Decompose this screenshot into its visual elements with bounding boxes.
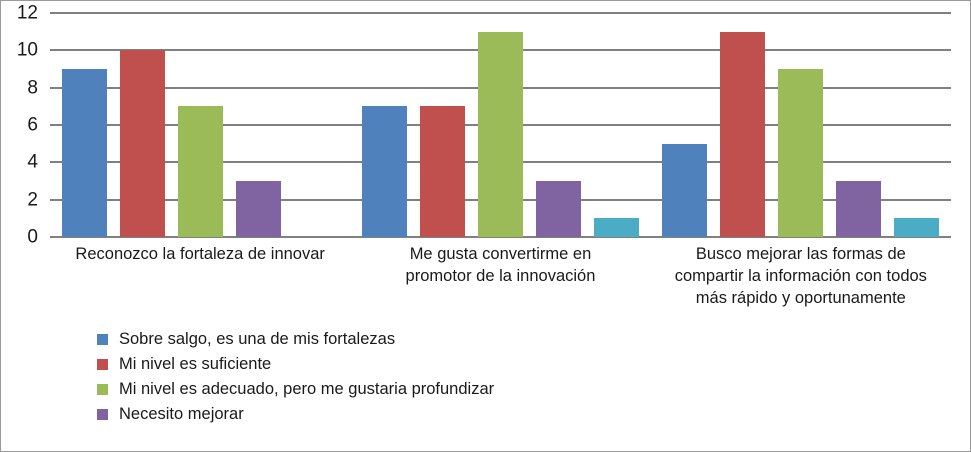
plot-area <box>50 13 951 237</box>
bar <box>536 181 581 237</box>
category-label-line: Reconozco la fortaleza de innovar <box>50 244 350 266</box>
y-tick-label: 12 <box>17 4 38 23</box>
category-label-line: compartir la información con todos <box>651 266 951 288</box>
bar <box>836 181 881 237</box>
category-label-line: Me gusta convertirme en <box>350 244 650 266</box>
category-label-line: promotor de la innovación <box>350 266 650 288</box>
category-label: Reconozco la fortaleza de innovar <box>50 244 350 266</box>
y-tick-label: 6 <box>27 116 38 135</box>
bar <box>236 181 281 237</box>
category-label: Me gusta convertirme enpromotor de la in… <box>350 244 650 288</box>
legend-label: Necesito mejorar <box>119 406 244 423</box>
bar <box>420 106 465 237</box>
legend-swatch-icon <box>97 359 108 370</box>
bar <box>362 106 407 237</box>
y-tick-label: 0 <box>27 228 38 247</box>
bar <box>478 32 523 237</box>
bar <box>62 69 107 237</box>
y-tick-label: 4 <box>27 153 38 172</box>
y-axis: 024681012 <box>1 1 50 249</box>
legend-label: Sobre salgo, es una de mis fortalezas <box>119 331 395 348</box>
legend-item[interactable]: Sobre salgo, es una de mis fortalezas <box>97 327 657 352</box>
legend-swatch-icon <box>97 384 108 395</box>
bars-layer <box>50 13 951 237</box>
bar <box>894 218 939 237</box>
legend-swatch-icon <box>97 409 108 420</box>
bar <box>178 106 223 237</box>
bar <box>720 32 765 237</box>
legend-label: Mi nivel es suficiente <box>119 356 271 373</box>
legend-swatch-icon <box>97 334 108 345</box>
legend-label: Mi nivel es adecuado, pero me gustaria p… <box>119 381 494 398</box>
x-axis-category-labels: Reconozco la fortaleza de innovarMe gust… <box>50 244 951 320</box>
bar-chart-figure: 024681012 Reconozco la fortaleza de inno… <box>0 0 971 452</box>
bar <box>594 218 639 237</box>
y-tick-label: 2 <box>27 190 38 209</box>
category-label-line: más rápido y oportunamente <box>651 288 951 310</box>
legend-item[interactable]: Mi nivel es suficiente <box>97 352 657 377</box>
bar <box>662 144 707 237</box>
bar <box>120 50 165 237</box>
legend-item[interactable]: Mi nivel es adecuado, pero me gustaria p… <box>97 377 657 402</box>
chart-legend: Sobre salgo, es una de mis fortalezasMi … <box>97 327 657 427</box>
y-tick-label: 8 <box>27 78 38 97</box>
legend-item[interactable]: Necesito mejorar <box>97 402 657 427</box>
category-label-line: Busco mejorar las formas de <box>651 244 951 266</box>
y-tick-label: 10 <box>17 41 38 60</box>
category-label: Busco mejorar las formas decompartir la … <box>651 244 951 309</box>
bar <box>778 69 823 237</box>
